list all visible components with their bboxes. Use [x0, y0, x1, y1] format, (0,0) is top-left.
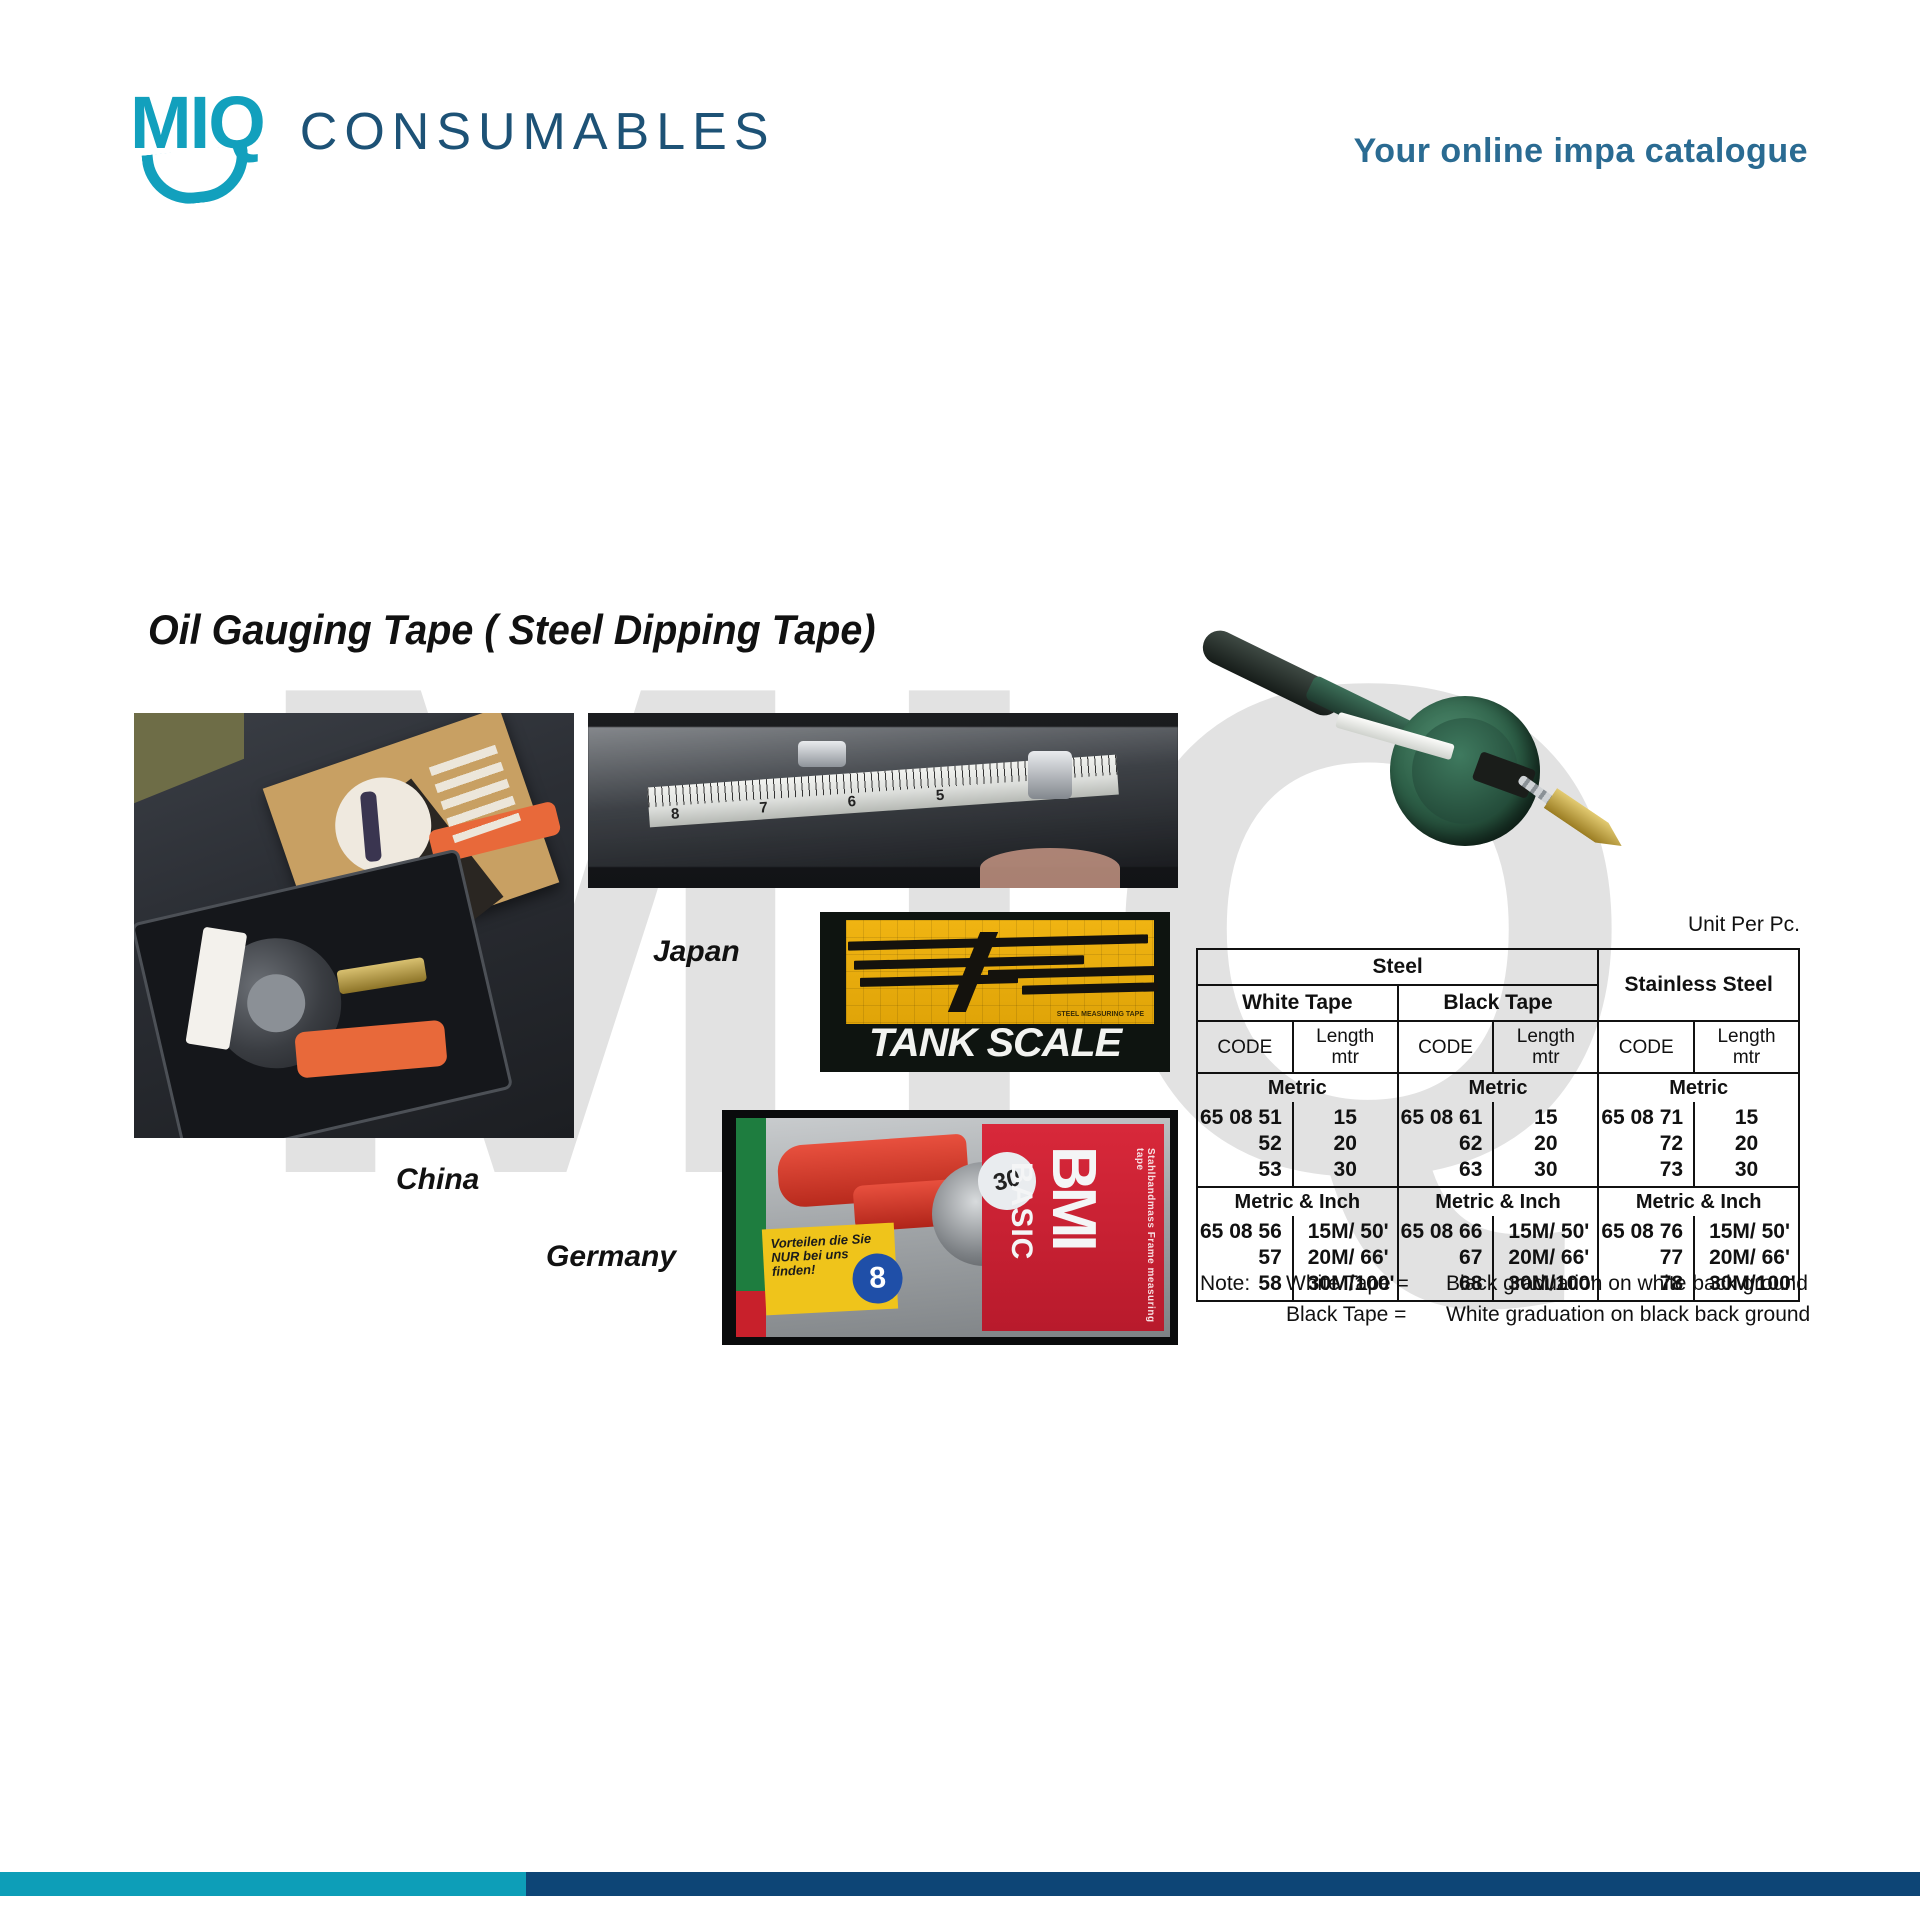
brand-logo[interactable]: MIQ CONSUMABLES — [130, 88, 776, 162]
page-header: MIQ CONSUMABLES Your online impa catalog… — [0, 0, 1920, 250]
bmi-brand-label: BMI — [1038, 1146, 1109, 1248]
group-header-stainless: Stainless Steel — [1598, 949, 1799, 1021]
col-header-length-line1: Length — [1717, 1026, 1775, 1047]
group-header-steel: Steel — [1197, 949, 1598, 985]
length-value: 15 — [1695, 1105, 1798, 1131]
blister-card: Vorteilen die Sie NUR bei uns finden! 8 … — [736, 1118, 1170, 1337]
note-key-white: White Tape = — [1286, 1268, 1446, 1299]
tape-reel-hub — [241, 968, 311, 1038]
photo-background-shape — [134, 713, 244, 803]
length-value: 15 — [1294, 1105, 1397, 1131]
length-value: 30 — [1695, 1157, 1798, 1183]
codes-metric-stainless: 65 08 71 72 73 — [1598, 1102, 1694, 1187]
tape-clip-left — [798, 741, 846, 767]
footer-teal-bar — [0, 1872, 526, 1896]
unit-per-pc-label: Unit Per Pc. — [1688, 913, 1800, 937]
product-photo-japan: 8 7 6 5 — [588, 713, 1178, 888]
section-label-metric-3: Metric — [1598, 1073, 1799, 1102]
col-header-code-3: CODE — [1598, 1021, 1694, 1073]
logo-stripe — [988, 966, 1158, 979]
card-red-stripe — [736, 1291, 766, 1337]
hand-in-photo — [980, 848, 1120, 888]
subgroup-black-tape: Black Tape — [1398, 985, 1599, 1021]
section-label-metric-inch-1: Metric & Inch — [1197, 1187, 1398, 1216]
col-header-length-line2: mtr — [1331, 1047, 1358, 1068]
brand-wordmark: CONSUMABLES — [300, 102, 776, 162]
subgroup-white-tape: White Tape — [1197, 985, 1398, 1021]
miq-logomark: MIQ — [130, 88, 264, 158]
code-value: 62 — [1399, 1131, 1483, 1157]
col-header-code-1: CODE — [1197, 1021, 1293, 1073]
bmi-red-panel: 30 BASIC BMI Stahlbandmass Frame measuri… — [982, 1124, 1164, 1331]
brass-plumb-bob — [336, 957, 427, 994]
table-note: Note: White Tape = Black graduation on w… — [1200, 1268, 1810, 1330]
tank-scale-label: STEEL MEASURING TAPE — [846, 920, 1154, 1024]
lengths-metric-white: 15 20 30 — [1293, 1102, 1398, 1187]
page-title: Oil Gauging Tape ( Steel Dipping Tape) — [148, 606, 876, 654]
bmi-subtext: Stahlbandmass Frame measuring tape — [1134, 1148, 1156, 1331]
section-label-metric-1: Metric — [1197, 1073, 1398, 1102]
caption-japan: Japan — [653, 935, 740, 969]
length-value: 20 — [1695, 1131, 1798, 1157]
caption-germany: Germany — [546, 1240, 676, 1274]
smile-swoosh-icon — [142, 145, 253, 209]
table-row-group-header: Steel Stainless Steel — [1197, 949, 1799, 985]
page-footer — [0, 1872, 1920, 1896]
note-line-1: Note: White Tape = Black graduation on w… — [1200, 1268, 1810, 1299]
col-header-code-2: CODE — [1398, 1021, 1494, 1073]
footer-navy-bar — [526, 1872, 1920, 1896]
code-value: 65 08 76 — [1599, 1219, 1683, 1245]
note-value-black: White graduation on black back ground — [1446, 1299, 1810, 1330]
blister-tray — [134, 848, 513, 1138]
table-row-column-header: CODE Length mtr CODE Length mtr CODE Len… — [1197, 1021, 1799, 1073]
logo-stripe — [848, 934, 1148, 950]
note-line-2: Black Tape = White graduation on black b… — [1200, 1299, 1810, 1330]
length-value: 15M/ 50' — [1709, 1219, 1798, 1245]
codes-metric-white: 65 08 51 52 53 — [1197, 1102, 1293, 1187]
product-photo-china — [134, 713, 574, 1138]
yellow-sticker: Vorteilen die Sie NUR bei uns finden! 8 — [762, 1223, 898, 1316]
note-label: Note: — [1200, 1268, 1286, 1299]
product-photo-gauging-tape — [1185, 648, 1645, 898]
col-header-length-2: Length mtr — [1493, 1021, 1598, 1073]
length-value: 15M/ 50' — [1508, 1219, 1597, 1245]
col-header-length-line1: Length — [1517, 1026, 1575, 1047]
col-header-length-line2: mtr — [1532, 1047, 1559, 1068]
tank-scale-title: TANK SCALE — [820, 1021, 1170, 1066]
code-value: 52 — [1198, 1131, 1282, 1157]
note-key-black: Black Tape = — [1286, 1299, 1446, 1330]
code-value: 73 — [1599, 1157, 1683, 1183]
code-value: 65 08 61 — [1399, 1105, 1483, 1131]
tape-clip-right — [1028, 751, 1072, 799]
code-value: 65 08 66 — [1399, 1219, 1483, 1245]
code-value: 65 08 51 — [1198, 1105, 1282, 1131]
code-value: 53 — [1198, 1157, 1282, 1183]
codes-metric-black: 65 08 61 62 63 — [1398, 1102, 1494, 1187]
table-row-metric-data: 65 08 51 52 53 15 20 30 65 08 61 62 63 1… — [1197, 1102, 1799, 1187]
code-value: 65 08 56 — [1198, 1219, 1282, 1245]
sticker-number-badge: 8 — [851, 1252, 904, 1305]
note-value-white: Black graduation on white back ground — [1446, 1268, 1808, 1299]
length-value: 15M/ 50' — [1308, 1219, 1397, 1245]
logo-stripe — [1022, 982, 1158, 994]
bmi-line-label: BASIC — [1004, 1162, 1038, 1260]
col-header-length-1: Length mtr — [1293, 1021, 1398, 1073]
header-tagline: Your online impa catalogue — [1354, 132, 1808, 171]
length-value: 30 — [1494, 1157, 1597, 1183]
note-label-spacer — [1200, 1299, 1286, 1330]
table-row-section-metric-header: Metric Metric Metric — [1197, 1073, 1799, 1102]
lengths-metric-black: 15 20 30 — [1493, 1102, 1598, 1187]
brass-plumb-bob — [1544, 788, 1629, 856]
table-row-section-metric-inch-header: Metric & Inch Metric & Inch Metric & Inc… — [1197, 1187, 1799, 1216]
length-value: 20 — [1494, 1131, 1597, 1157]
lengths-metric-stainless: 15 20 30 — [1694, 1102, 1799, 1187]
length-value: 15 — [1494, 1105, 1597, 1131]
col-header-length-3: Length mtr — [1694, 1021, 1799, 1073]
col-header-length-line1: Length — [1316, 1026, 1374, 1047]
code-value: 65 08 71 — [1599, 1105, 1683, 1131]
length-value: 20 — [1294, 1131, 1397, 1157]
code-value: 72 — [1599, 1131, 1683, 1157]
section-label-metric-inch-2: Metric & Inch — [1398, 1187, 1599, 1216]
code-value: 63 — [1399, 1157, 1483, 1183]
tank-scale-small-text: STEEL MEASURING TAPE — [1057, 1011, 1144, 1018]
product-photo-tank-scale: STEEL MEASURING TAPE TANK SCALE — [820, 912, 1170, 1072]
section-label-metric-2: Metric — [1398, 1073, 1599, 1102]
specification-table: Steel Stainless Steel White Tape Black T… — [1196, 948, 1800, 1302]
length-value: 30 — [1294, 1157, 1397, 1183]
caption-china: China — [396, 1163, 479, 1197]
col-header-length-line2: mtr — [1733, 1047, 1760, 1068]
product-photo-germany: Vorteilen die Sie NUR bei uns finden! 8 … — [722, 1110, 1178, 1345]
section-label-metric-inch-3: Metric & Inch — [1598, 1187, 1799, 1216]
